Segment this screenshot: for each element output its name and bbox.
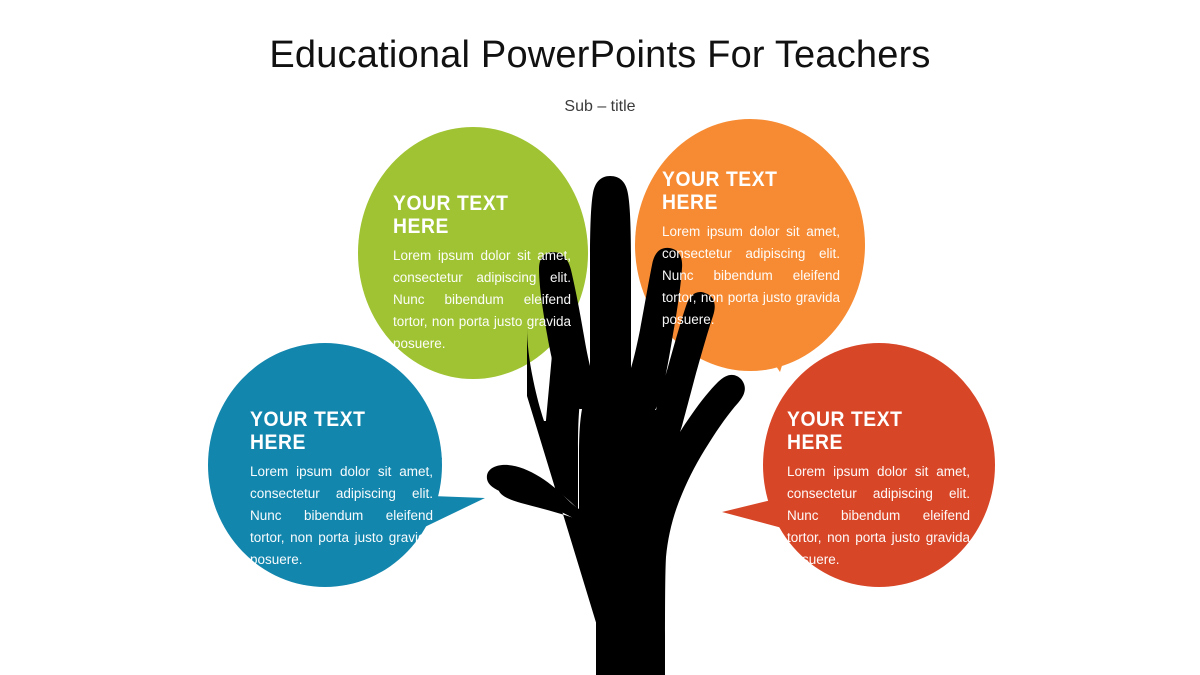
bubble-blue-body-text: Lorem ipsum dolor sit amet, consectetur …	[250, 461, 433, 570]
bubble-blue-text: YOUR TEXT HERE Lorem ipsum dolor sit ame…	[250, 408, 433, 570]
bubble-red-body-text: Lorem ipsum dolor sit amet, consectetur …	[787, 461, 970, 570]
bubble-green-body-text: Lorem ipsum dolor sit amet, consectetur …	[393, 245, 571, 354]
bubble-orange-body-text: Lorem ipsum dolor sit amet, consectetur …	[662, 221, 840, 330]
bubble-green-text: YOUR TEXT HERE Lorem ipsum dolor sit ame…	[393, 192, 571, 354]
infographic-artwork	[0, 0, 1200, 675]
bubble-blue-heading: YOUR TEXT HERE	[250, 408, 418, 454]
bubble-green-heading: YOUR TEXT HERE	[393, 192, 557, 238]
bubble-orange-heading: YOUR TEXT HERE	[662, 168, 826, 214]
bubble-orange-text: YOUR TEXT HERE Lorem ipsum dolor sit ame…	[662, 168, 840, 330]
slide-canvas: Educational PowerPoints For Teachers Sub…	[0, 0, 1200, 675]
bubble-red-text: YOUR TEXT HERE Lorem ipsum dolor sit ame…	[787, 408, 970, 570]
bubble-red-heading: YOUR TEXT HERE	[787, 408, 955, 454]
